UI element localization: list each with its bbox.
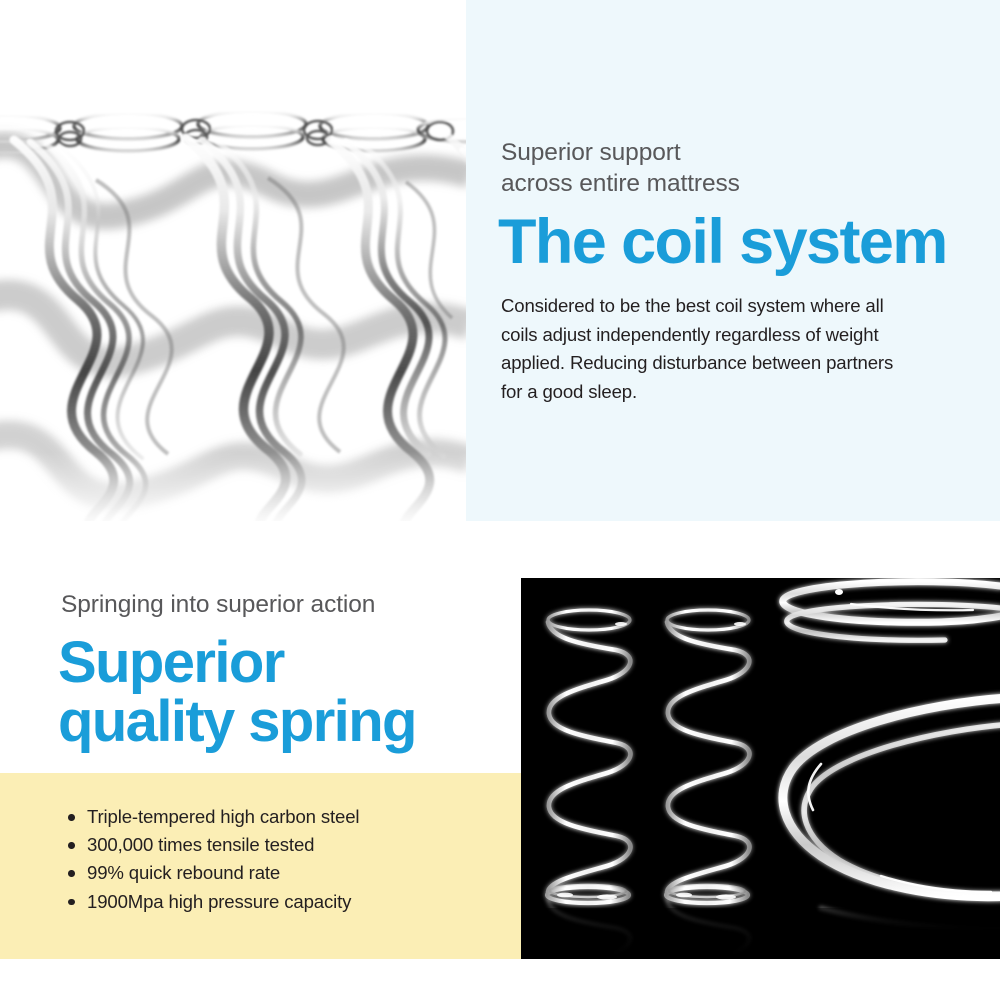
feature-highlight-band: Triple-tempered high carbon steel 300,00… xyxy=(0,773,522,959)
coil-headline: The coil system xyxy=(498,207,947,277)
coil-body-paragraph: Considered to be the best coil system wh… xyxy=(501,292,913,406)
spring-feature-list: Triple-tempered high carbon steel 300,00… xyxy=(66,803,359,916)
spring-quality-text-panel: Springing into superior action Superior … xyxy=(0,521,522,1000)
list-item: Triple-tempered high carbon steel xyxy=(66,803,359,831)
coil-system-text-panel: Superior support across entire mattress … xyxy=(466,0,1000,521)
list-item: 300,000 times tensile tested xyxy=(66,831,359,859)
list-item: 1900Mpa high pressure capacity xyxy=(66,888,359,916)
coil-springs-photo xyxy=(521,578,1000,959)
list-item: 99% quick rebound rate xyxy=(66,859,359,887)
spring-eyebrow-text: Springing into superior action xyxy=(61,589,501,620)
spring-headline: Superior quality spring xyxy=(58,633,416,751)
coil-wires-photo xyxy=(0,0,466,521)
product-infographic: Superior support across entire mattress … xyxy=(0,0,1000,1000)
coil-eyebrow-text: Superior support across entire mattress xyxy=(501,137,971,199)
